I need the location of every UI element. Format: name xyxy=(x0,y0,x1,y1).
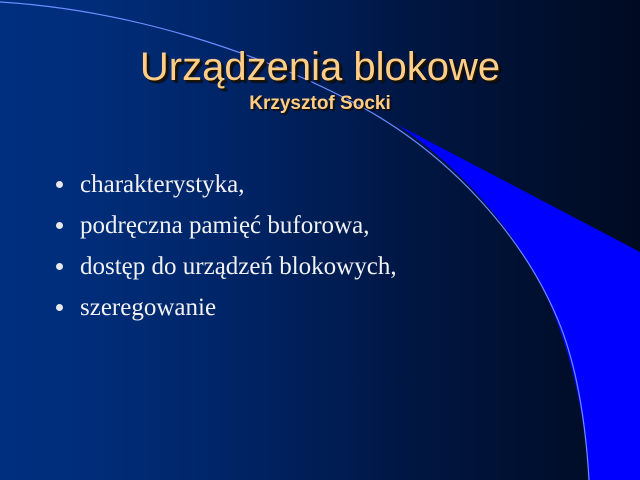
page-title: Urządzenia blokowe xyxy=(0,44,640,90)
list-item-label: dostęp do urządzeń blokowych, xyxy=(80,253,397,280)
presentation-slide: Urządzenia blokowe Krzysztof Socki chara… xyxy=(0,0,640,480)
bullet-point-icon xyxy=(56,304,63,311)
title-block: Urządzenia blokowe Krzysztof Socki xyxy=(0,44,640,116)
bullet-point-icon xyxy=(56,263,63,270)
bullet-list: charakterystyka, podręczna pamięć buforo… xyxy=(44,164,564,328)
page-subtitle: Krzysztof Socki xyxy=(0,92,640,116)
list-item-label: szeregowanie xyxy=(80,294,216,321)
bullet-point-icon xyxy=(56,181,63,188)
list-item-label: podręczna pamięć buforowa, xyxy=(80,212,369,239)
list-item: szeregowanie xyxy=(44,287,564,328)
list-item: podręczna pamięć buforowa, xyxy=(44,205,564,246)
list-item-label: charakterystyka, xyxy=(80,171,245,198)
list-item: charakterystyka, xyxy=(44,164,564,205)
list-item: dostęp do urządzeń blokowych, xyxy=(44,246,564,287)
bullet-point-icon xyxy=(56,222,63,229)
